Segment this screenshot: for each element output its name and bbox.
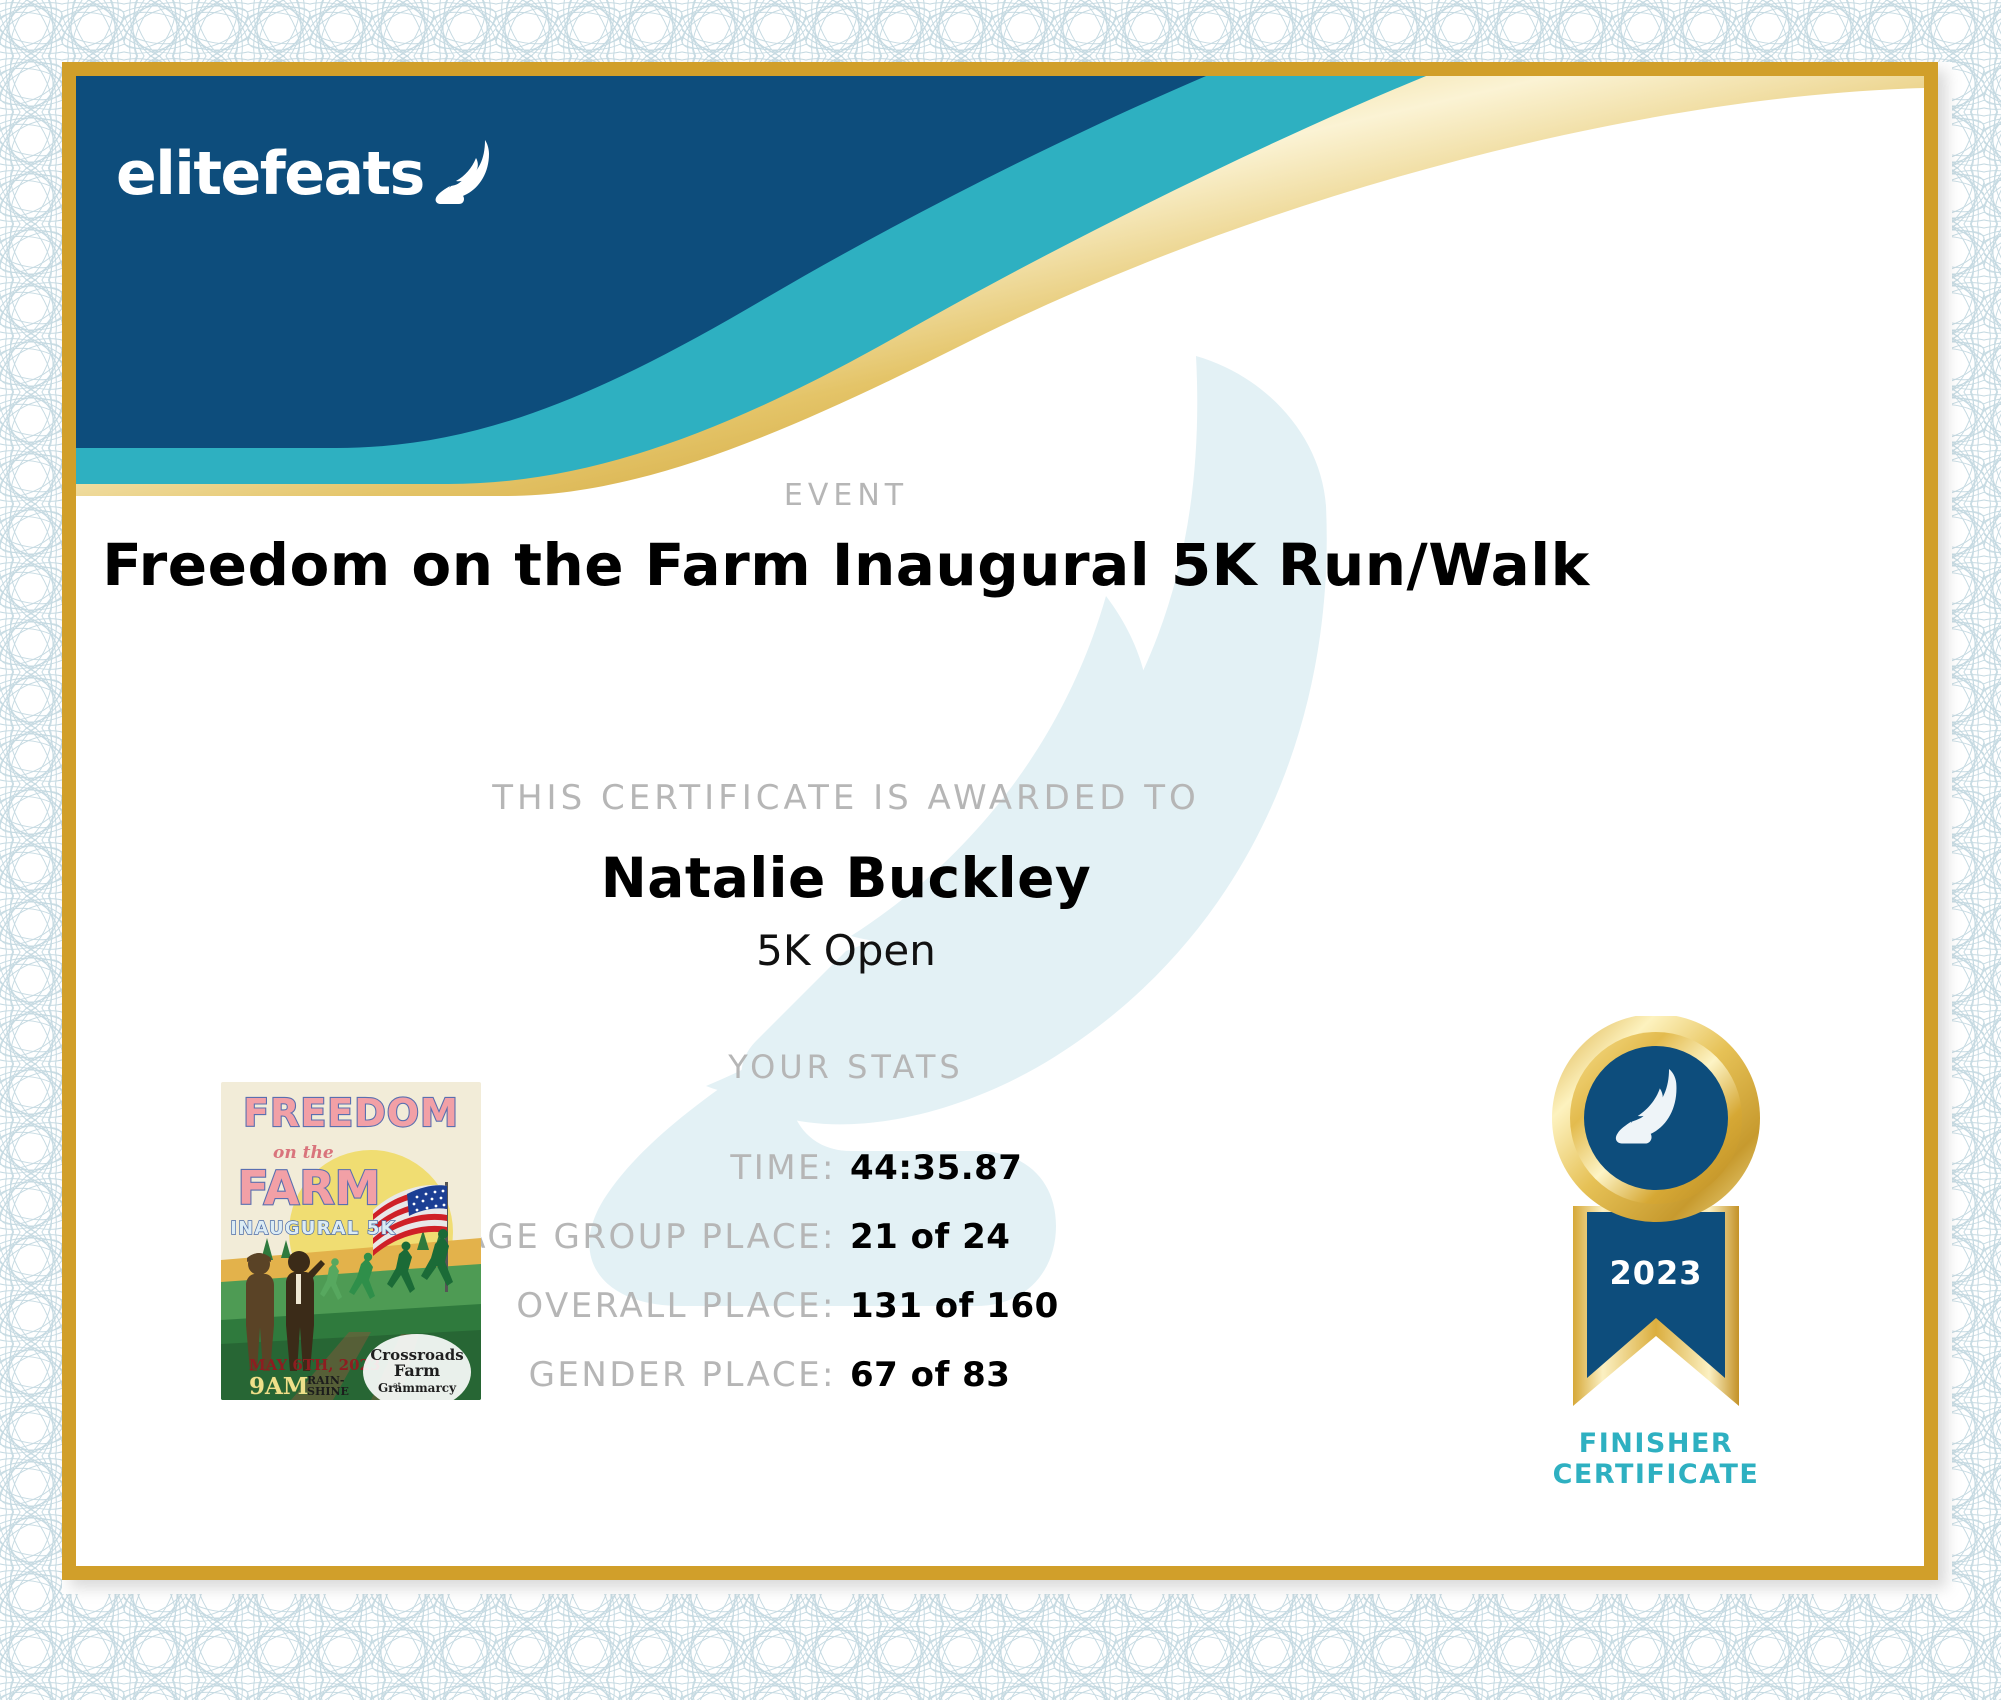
caption-line-2: CERTIFICATE — [1481, 1460, 1831, 1491]
finisher-certificate-caption: FINISHER CERTIFICATE — [1481, 1429, 1831, 1491]
svg-text:Farm: Farm — [394, 1361, 440, 1380]
svg-text:on the: on the — [273, 1143, 334, 1163]
svg-text:FREEDOM: FREEDOM — [243, 1091, 459, 1135]
svg-text:MAY 6TH, 2023: MAY 6TH, 2023 — [249, 1356, 380, 1374]
certificate-content: EVENT Freedom on the Farm Inaugural 5K R… — [76, 76, 1924, 1566]
finisher-medal: 2023 — [1511, 1016, 1801, 1456]
certificate-body: elitefeats — [76, 76, 1924, 1566]
svg-text:9AM: 9AM — [249, 1373, 308, 1400]
event-label: EVENT — [76, 478, 1616, 513]
svg-text:FARM: FARM — [238, 1161, 381, 1215]
recipient-name: Natalie Buckley — [76, 846, 1616, 910]
event-poster-image: FREEDOM on the FARM INAUGURAL 5K MAY 6TH… — [221, 1082, 481, 1400]
svg-text:SHINE: SHINE — [307, 1385, 349, 1398]
gold-frame: elitefeats — [62, 62, 1938, 1580]
medal-year-text: 2023 — [1609, 1254, 1702, 1292]
certificate-page: elitefeats — [0, 0, 2001, 1700]
event-title: Freedom on the Farm Inaugural 5K Run/Wal… — [76, 531, 1616, 599]
stat-value-gender-place: 67 of 83 — [846, 1355, 1616, 1395]
svg-text:Grammarcy: Grammarcy — [378, 1381, 457, 1395]
svg-text:INAUGURAL 5K: INAUGURAL 5K — [230, 1218, 396, 1239]
caption-line-1: FINISHER — [1481, 1429, 1831, 1460]
stat-value-time: 44:35.87 — [846, 1148, 1616, 1188]
stat-value-overall-place: 131 of 160 — [846, 1286, 1616, 1326]
your-stats-label: YOUR STATS — [76, 1048, 1616, 1086]
stat-value-age-group-place: 21 of 24 — [846, 1217, 1616, 1257]
recipient-division: 5K Open — [76, 926, 1616, 975]
awarded-to-label: THIS CERTIFICATE IS AWARDED TO — [76, 778, 1616, 818]
